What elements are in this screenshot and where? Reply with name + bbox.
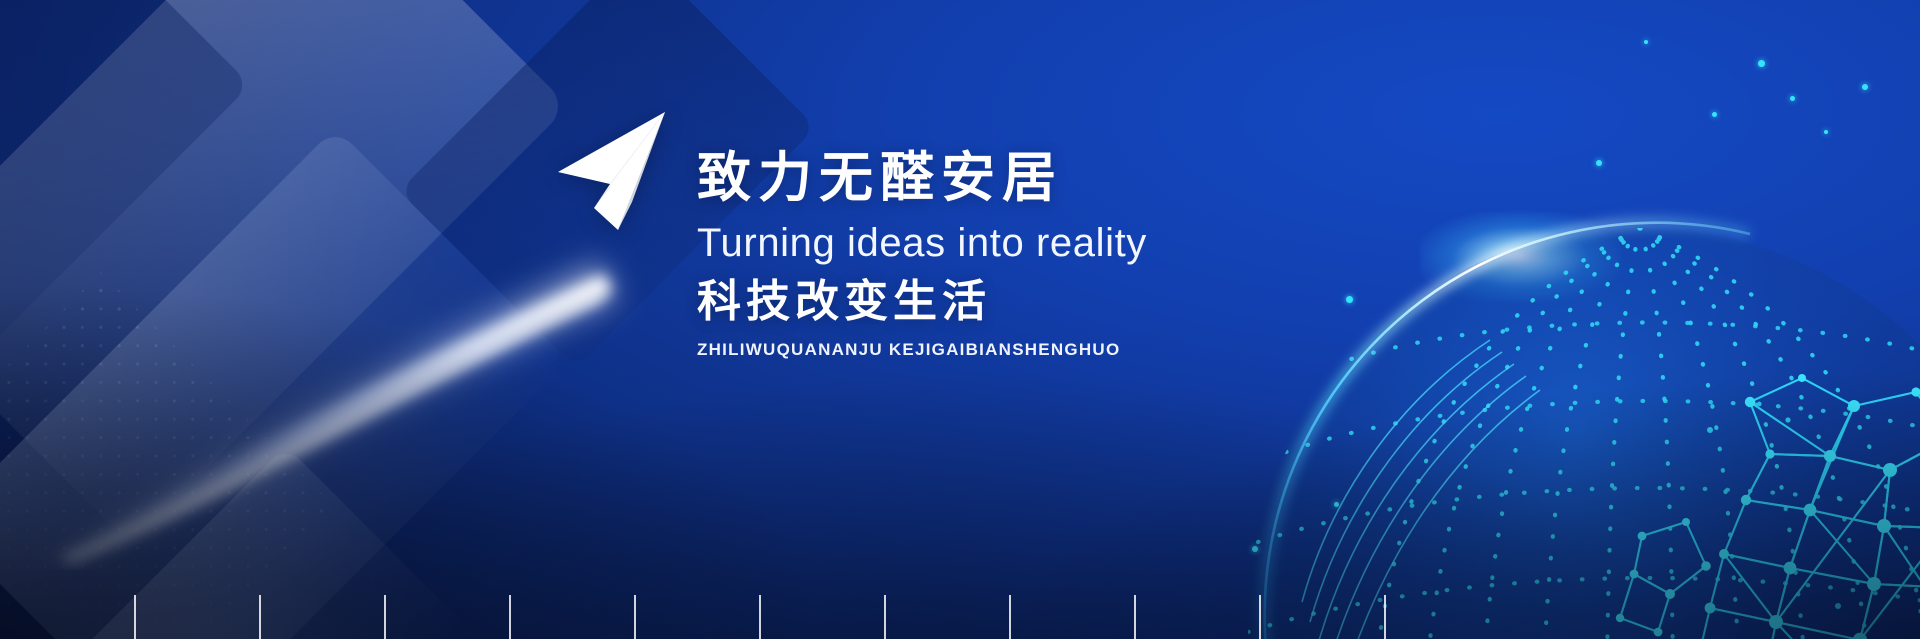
tick-mark [1384, 595, 1386, 639]
accent-dot [1712, 112, 1717, 117]
subheadline-english: Turning ideas into reality [697, 218, 1457, 268]
pinyin-caption: ZHILIWUQUANANJU KEJIGAIBIANSHENGHUO [697, 340, 1457, 360]
accent-dot [1334, 502, 1339, 507]
accent-dot [1596, 160, 1602, 166]
hero-copy-block: 致力无醛安居 Turning ideas into reality 科技改变生活… [697, 148, 1457, 360]
headline-chinese: 致力无醛安居 [697, 148, 1457, 210]
accent-dot [1644, 40, 1648, 44]
accent-dot [1824, 130, 1828, 134]
hero-banner: 致力无醛安居 Turning ideas into reality 科技改变生活… [0, 0, 1920, 639]
paper-plane-icon [548, 110, 708, 242]
accent-dot [1862, 84, 1868, 90]
accent-dot [1758, 60, 1765, 67]
tagline-chinese: 科技改变生活 [697, 276, 1457, 328]
accent-dot [1790, 96, 1795, 101]
tick-mark [1259, 595, 1261, 639]
accent-dot [1252, 546, 1258, 552]
